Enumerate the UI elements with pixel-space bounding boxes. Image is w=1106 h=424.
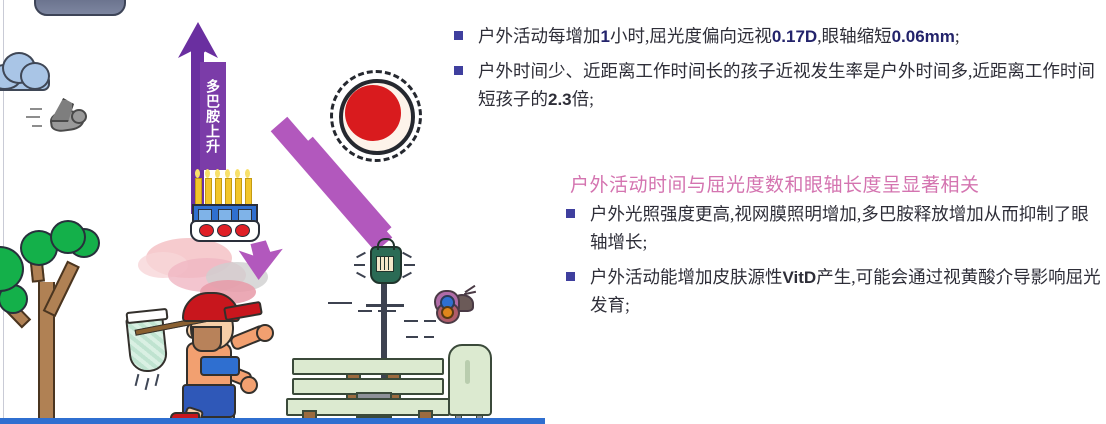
park-bench-icon (292, 358, 440, 424)
motion-dash (358, 310, 372, 312)
cloud-icon (0, 52, 52, 86)
motion-dash (328, 302, 352, 304)
top-bullet-list: 户外活动每增加1小时,屈光度偏向远视0.17D,眼轴缩短0.06mm; 户外时间… (452, 22, 1106, 119)
text-content-panel: 户外活动每增加1小时,屈光度偏向远视0.17D,眼轴缩短0.06mm; 户外时间… (452, 0, 1106, 424)
list-item: 户外光照强度更高,视网膜照明增加,多巴胺释放增加从而抑制了眼轴增长; (564, 200, 1106, 257)
tree-icon (0, 222, 110, 424)
list-item: 户外时间少、近距离工作时间长的孩子近视发生率是户外时间多,近距离工作时间短孩子的… (452, 57, 1106, 114)
bottom-bullet-list: 户外光照强度更高,视网膜照明增加,多巴胺释放增加从而抑制了眼轴增长; 户外活动能… (564, 200, 1106, 326)
dopamine-up-label-text: 多巴胺上升 (203, 79, 223, 154)
motion-dash (424, 336, 434, 338)
list-item: 户外活动能增加皮肤源性VitD产生,可能会通过视黄酸介导影响屈光发育; (564, 263, 1106, 320)
bird-icon (38, 98, 84, 134)
dopamine-up-label: 多巴胺上升 (200, 62, 226, 170)
section-heading: 户外活动时间与屈光度数和眼轴长度呈显著相关 (570, 170, 1106, 197)
boy-with-net-icon (140, 282, 270, 424)
slide-canvas: 多巴胺上升 (0, 0, 1106, 424)
motion-dash (404, 320, 418, 322)
list-item: 户外活动每增加1小时,屈光度偏向远视0.17D,眼轴缩短0.06mm; (452, 22, 1106, 51)
motion-dash (406, 336, 418, 338)
motion-dash (378, 310, 396, 312)
